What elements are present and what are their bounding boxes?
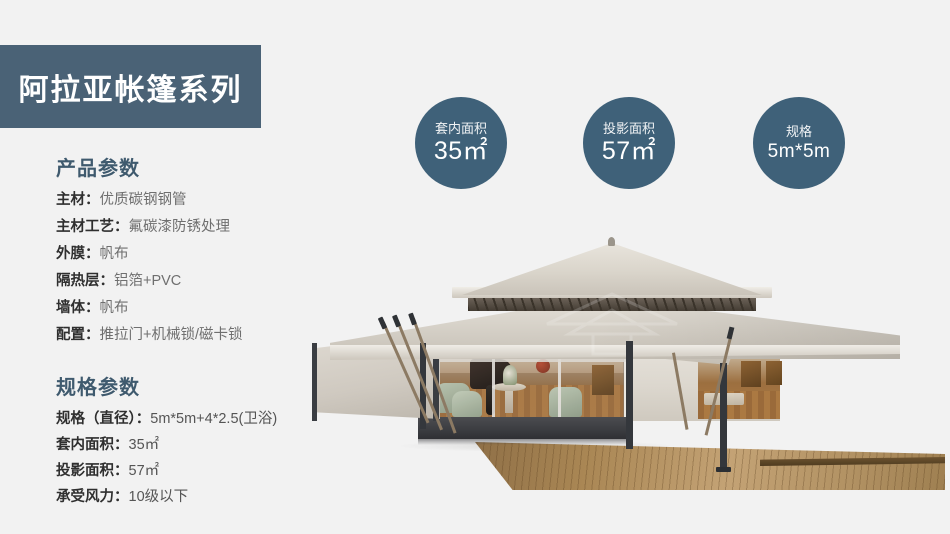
- param-value: 推拉门+机械锁/磁卡锁: [100, 327, 243, 343]
- spec-value: 10级以下: [129, 489, 189, 505]
- watermark-pagoda-icon: [505, 290, 720, 356]
- spec-label: 规格（直径）：: [56, 411, 150, 427]
- stat-circle-label: 套内面积: [435, 122, 487, 135]
- stat-circle-value: 35㎡: [434, 139, 488, 164]
- param-value: 优质碳钢钢管: [100, 192, 187, 208]
- product-spec-page: 阿拉亚帐篷系列 产品参数 主材：优质碳钢钢管 主材工艺：氟碳漆防锈处理 外膜：帆…: [0, 0, 950, 534]
- rope-anchor-cap: [378, 317, 387, 330]
- param-value: 帆布: [100, 246, 129, 262]
- stat-circle-projected-area: 投影面积 57㎡: [583, 97, 675, 189]
- page-title: 阿拉亚帐篷系列: [19, 65, 243, 109]
- furniture-chair: [766, 361, 782, 385]
- roof-finial: [608, 237, 615, 246]
- spec-label: 投影面积：: [56, 463, 129, 479]
- stat-circle-value: 5m*5m: [768, 142, 831, 161]
- stat-circle-value: 57㎡: [602, 139, 656, 164]
- rope-anchor-cap: [408, 313, 417, 326]
- param-label: 主材工艺：: [56, 219, 129, 235]
- param-label: 配置：: [56, 327, 100, 343]
- rope-anchor-cap: [392, 315, 401, 328]
- furniture-cabinet: [741, 361, 761, 387]
- spec-value: 5m*5m+4*2.5(卫浴): [150, 411, 277, 427]
- foundation-shadow: [418, 439, 633, 445]
- spec-label: 套内面积：: [56, 437, 129, 453]
- param-row: 主材：优质碳钢钢管: [56, 187, 356, 214]
- param-value: 帆布: [100, 300, 129, 316]
- title-banner: 阿拉亚帐篷系列: [0, 45, 261, 128]
- param-value: 氟碳漆防锈处理: [129, 219, 231, 235]
- stat-circle-dimensions: 规格 5m*5m: [753, 97, 845, 189]
- stat-circle-label: 投影面积: [603, 122, 655, 135]
- spec-value: 35㎡: [129, 437, 160, 453]
- upper-roof: [462, 243, 762, 295]
- param-value: 铝箔+PVC: [114, 273, 181, 289]
- param-label: 墙体：: [56, 300, 100, 316]
- tent-illustration: [300, 235, 950, 500]
- stat-circle-interior-area: 套内面积 35㎡: [415, 97, 507, 189]
- product-params-heading: 产品参数: [56, 152, 356, 181]
- spec-label: 承受风力：: [56, 489, 129, 505]
- spec-value: 57㎡: [129, 463, 160, 479]
- param-label: 主材：: [56, 192, 100, 208]
- param-label: 外膜：: [56, 246, 100, 262]
- support-pole: [626, 341, 633, 449]
- param-label: 隔热层：: [56, 273, 114, 289]
- pole-base-plate: [716, 467, 731, 472]
- wing-post-left: [312, 343, 317, 421]
- window-transom: [425, 359, 627, 362]
- brand-watermark: [505, 290, 720, 356]
- stat-circle-label: 规格: [786, 125, 812, 138]
